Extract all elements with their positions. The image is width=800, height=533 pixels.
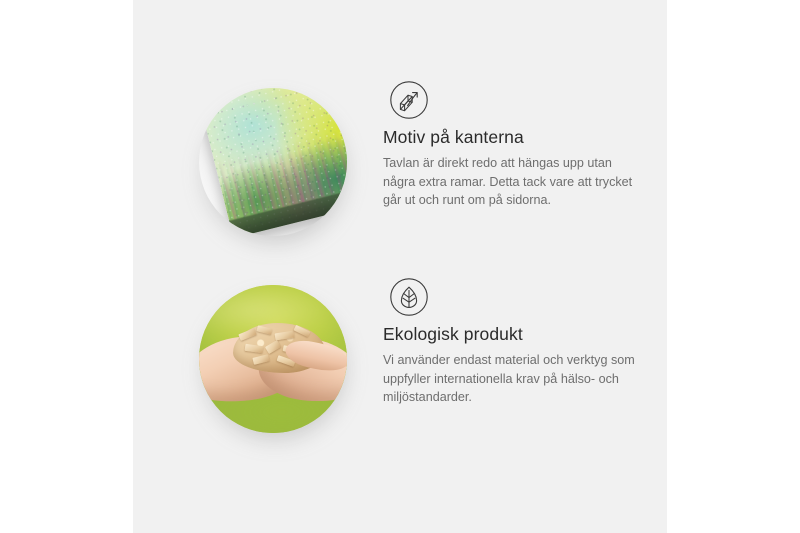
feature-description: Vi använder endast material och verktyg … [383, 351, 645, 407]
feature-media-eco [199, 285, 347, 433]
feature-text-block: Motiv på kanterna Tavlan är direkt redo … [383, 127, 663, 210]
wood-chip [256, 325, 272, 334]
feature-title: Motiv på kanterna [383, 127, 663, 148]
content-panel: Motiv på kanterna Tavlan är direkt redo … [133, 0, 667, 533]
feature-text-block: Ekologisk produkt Vi använder endast mat… [383, 324, 663, 407]
product-feature-panel: Motiv på kanterna Tavlan är direkt redo … [0, 0, 800, 533]
wood-chip [275, 331, 295, 341]
wood-chip [245, 344, 264, 353]
feature-title: Ekologisk produkt [383, 324, 663, 345]
eco-photo-background [199, 285, 347, 433]
feature-row-ekologisk-produkt: Ekologisk produkt Vi använder endast mat… [133, 267, 667, 457]
feature-media-canvas [199, 88, 347, 236]
wood-chip [265, 340, 281, 354]
canvas-photo-background [199, 88, 347, 236]
canvas-wrapped-edge-icon [389, 80, 429, 120]
leaf-icon [389, 277, 429, 317]
canvas-block [199, 88, 347, 236]
wood-chip [252, 354, 269, 365]
feature-description: Tavlan är direkt redo att hängas upp uta… [383, 154, 645, 210]
canvas-corner-photo [199, 88, 347, 236]
hands-with-wood-chips-photo [199, 285, 347, 433]
feature-row-motiv-pa-kanterna: Motiv på kanterna Tavlan är direkt redo … [133, 70, 667, 260]
